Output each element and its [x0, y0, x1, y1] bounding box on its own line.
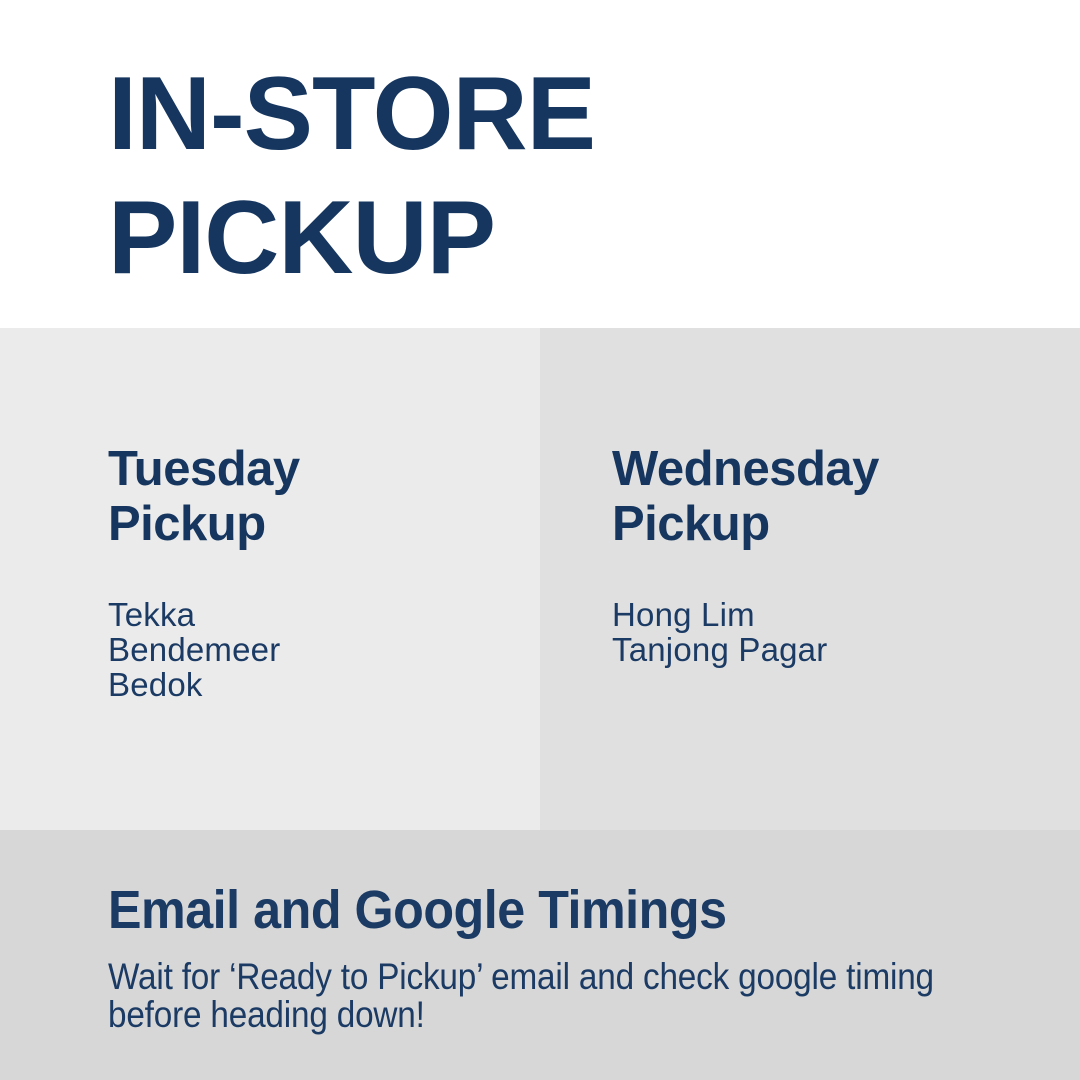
- list-item: Bedok: [108, 667, 540, 702]
- list-item: Bendemeer: [108, 632, 540, 667]
- in-store-pickup-poster: IN-STORE PICKUP Tuesday Pickup Tekka Ben…: [0, 0, 1080, 1080]
- note-heading: Email and Google Timings: [108, 830, 1012, 940]
- wednesday-heading-line-2: Pickup: [612, 497, 1080, 552]
- wednesday-heading: Wednesday Pickup: [612, 328, 1080, 552]
- tuesday-heading-line-2: Pickup: [108, 497, 540, 552]
- pickup-day-panels: Tuesday Pickup Tekka Bendemeer Bedok Wed…: [0, 328, 1080, 830]
- panel-wednesday: Wednesday Pickup Hong Lim Tanjong Pagar: [540, 328, 1080, 830]
- note-body: Wait for ‘Ready to Pickup’ email and che…: [108, 940, 945, 1034]
- wednesday-heading-line-1: Wednesday: [612, 442, 1080, 497]
- tuesday-heading-line-1: Tuesday: [108, 442, 540, 497]
- page-title: IN-STORE PICKUP: [108, 52, 828, 300]
- page-title-line-1: IN-STORE: [108, 52, 828, 176]
- header-band: IN-STORE PICKUP: [0, 0, 1080, 328]
- list-item: Tanjong Pagar: [612, 632, 1080, 667]
- tuesday-location-list: Tekka Bendemeer Bedok: [108, 552, 540, 702]
- list-item: Tekka: [108, 597, 540, 632]
- page-title-line-2: PICKUP: [108, 176, 828, 300]
- panel-tuesday: Tuesday Pickup Tekka Bendemeer Bedok: [0, 328, 540, 830]
- tuesday-heading: Tuesday Pickup: [108, 328, 540, 552]
- list-item: Hong Lim: [612, 597, 1080, 632]
- wednesday-location-list: Hong Lim Tanjong Pagar: [612, 552, 1080, 667]
- note-banner: Email and Google Timings Wait for ‘Ready…: [0, 830, 1080, 1080]
